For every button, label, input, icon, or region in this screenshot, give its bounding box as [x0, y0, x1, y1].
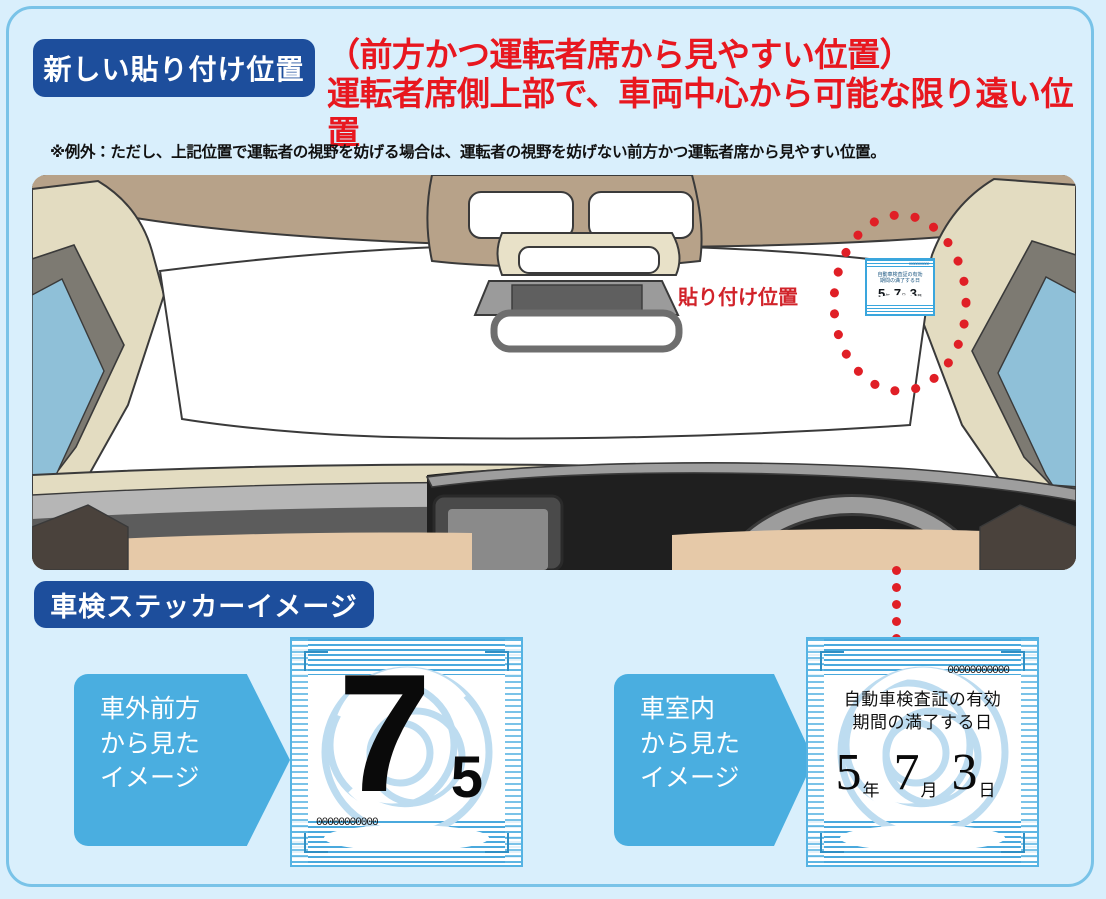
badge-new-position: 新しい貼り付け位置	[33, 39, 315, 97]
sticker-outside-serial: 00000000000	[316, 817, 378, 829]
sticker-outside-month-small: 5	[451, 749, 483, 807]
sticker-outside-ticks-left	[292, 639, 308, 865]
sticker-inside-caption: 自動車検査証の有効 期間の満了する日	[808, 689, 1037, 735]
callout-outside-line-3: イメージ	[100, 761, 260, 796]
infographic-page: 新しい貼り付け位置 （前方かつ運転者席から見やすい位置） 運転者席側上部で、車両…	[0, 0, 1106, 899]
sticker-inside-view: 00000000000 自動車検査証の有効 期間の満了する日 5年7月3日	[806, 637, 1039, 867]
headline-line-1: （前方かつ運転者席から見やすい位置）	[327, 36, 1097, 75]
sticker-inside-year-unit: 年	[862, 781, 894, 800]
sticker-outside-corner-tl	[304, 651, 328, 671]
sticker-inside-day: 3	[952, 744, 978, 801]
rearview-mirror	[494, 313, 679, 349]
sticker-inside-month-unit: 月	[920, 781, 952, 800]
sticker-outside-year-big: 7	[338, 649, 425, 817]
sticker-inside-serial: 00000000000	[947, 665, 1009, 677]
sticker-inside-month: 7	[894, 744, 920, 801]
car-interior-svg	[32, 175, 1076, 570]
callout-inside-line-2: から見た	[640, 727, 784, 762]
windshield-sticker: 00000000000 自動車検査証の有効 期間の満了する日 5年 7月 3日	[865, 258, 935, 316]
dotted-connector-trail	[892, 566, 906, 638]
windshield-sticker-serial: 00000000000	[909, 262, 929, 266]
windshield-sticker-caption: 自動車検査証の有効 期間の満了する日	[867, 272, 933, 285]
sticker-outside-view: 7 5 00000000000	[290, 637, 523, 867]
sticker-inside-date: 5年7月3日	[808, 747, 1037, 799]
sticker-inside-caption-line-1: 自動車検査証の有効	[808, 689, 1037, 712]
callout-inside-line-1: 車室内	[640, 692, 784, 727]
callout-outside-line-2: から見た	[100, 727, 260, 762]
sticker-inside-year: 5	[836, 744, 862, 801]
sticker-inside-corner-tl	[820, 651, 844, 671]
car-interior-illustration	[32, 175, 1076, 570]
paste-position-label: 貼り付け位置	[678, 281, 798, 310]
windshield-sticker-caption-line-2: 期間の満了する日	[867, 278, 933, 284]
console-light	[519, 247, 659, 273]
windshield-sticker-oval	[875, 295, 925, 303]
sticker-outside-ticks-right	[505, 639, 521, 865]
headline: （前方かつ運転者席から見やすい位置） 運転者席側上部で、車両中心から可能な限り遠…	[327, 36, 1097, 153]
sticker-inside-caption-line-2: 期間の満了する日	[808, 712, 1037, 735]
callout-outside-line-1: 車外前方	[100, 692, 260, 727]
callout-outside-view: 車外前方 から見た イメージ	[74, 674, 290, 846]
badge-sticker-image: 車検ステッカーイメージ	[34, 581, 374, 628]
windshield-sticker-stripes-bottom	[867, 305, 933, 314]
exception-note: ※例外：ただし、上記位置で運転者の視野を妨げる場合は、運転者の視野を妨げない前方…	[50, 140, 1080, 162]
sticker-inside-oval	[840, 825, 1005, 851]
sun-visor-left	[469, 192, 573, 238]
sticker-outside-corner-tr	[485, 651, 509, 671]
sun-visor-right	[589, 192, 693, 238]
callout-inside-view: 車室内 から見た イメージ	[614, 674, 814, 846]
header-section: 新しい貼り付け位置 （前方かつ運転者席から見やすい位置） 運転者席側上部で、車両…	[0, 0, 1106, 175]
sticker-inside-day-unit: 日	[978, 781, 1010, 800]
callout-inside-line-3: イメージ	[640, 761, 784, 796]
